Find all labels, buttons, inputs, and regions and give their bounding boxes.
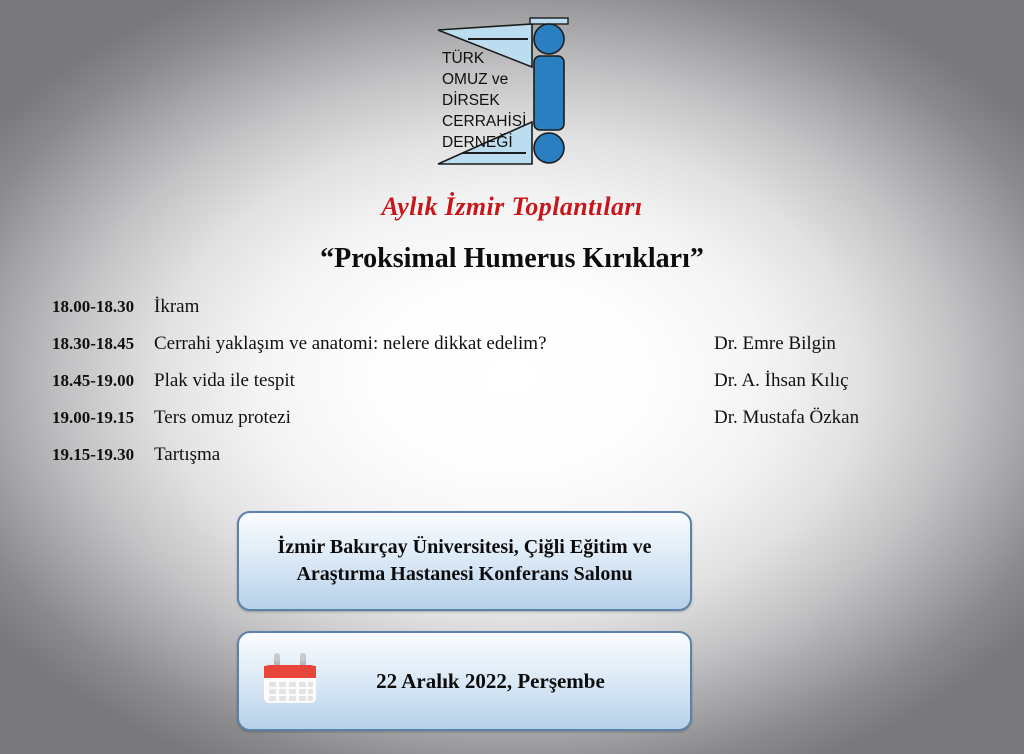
program-speaker: Dr. Emre Bilgin xyxy=(714,333,972,355)
calendar-post-left xyxy=(274,653,280,662)
series-title: Aylık İzmir Toplantıları xyxy=(0,192,1024,222)
program-time: 19.00-19.15 xyxy=(52,408,152,428)
calendar-icon xyxy=(261,652,319,710)
program-topic: Cerrahi yaklaşım ve anatomi: nelere dikk… xyxy=(152,333,714,355)
logo-bottom-circle xyxy=(534,133,564,163)
program-row: 18.00-18.30 İkram xyxy=(52,296,972,333)
venue-line-2: Araştırma Hastanesi Konferans Salonu xyxy=(296,563,632,585)
logo-line-omuz-ve: OMUZ ve xyxy=(442,71,508,88)
calendar-post-right xyxy=(300,653,306,662)
logo-top-cap xyxy=(530,18,568,24)
program-speaker: Dr. A. İhsan Kılıç xyxy=(714,370,972,392)
program-time: 18.45-19.00 xyxy=(52,371,152,391)
logo-top-circle xyxy=(534,24,564,54)
logo-line-dirsek: DİRSEK xyxy=(442,91,500,109)
program-speaker: Dr. Mustafa Özkan xyxy=(714,407,972,429)
date-box: 22 Aralık 2022, Perşembe xyxy=(237,631,692,731)
logo-line-dernegi: DERNEĞİ xyxy=(442,133,513,151)
program-topic: Ters omuz protezi xyxy=(152,407,714,429)
turk-omuz-ve-dirsek-cerrahisi-dernegi-logo: TÜRK OMUZ ve DİRSEK CERRAHİSİ DERNEĞİ xyxy=(432,12,592,177)
venue-line-1: İzmir Bakırçay Üniversitesi, Çiğli Eğiti… xyxy=(277,536,651,558)
program-row: 19.00-19.15 Ters omuz protezi Dr. Mustaf… xyxy=(52,407,972,444)
logo-block: TÜRK OMUZ ve DİRSEK CERRAHİSİ DERNEĞİ xyxy=(0,12,1024,177)
program-topic: Tartışma xyxy=(152,444,714,466)
program-row: 18.45-19.00 Plak vida ile tespit Dr. A. … xyxy=(52,370,972,407)
poster-canvas: TÜRK OMUZ ve DİRSEK CERRAHİSİ DERNEĞİ Ay… xyxy=(0,0,1024,754)
program-topic: Plak vida ile tespit xyxy=(152,370,714,392)
date-text: 22 Aralık 2022, Perşembe xyxy=(319,669,690,694)
venue-text: İzmir Bakırçay Üniversitesi, Çiğli Eğiti… xyxy=(263,534,665,588)
program-time: 18.30-18.45 xyxy=(52,334,152,354)
logo-center-bar xyxy=(534,56,564,130)
program-time: 18.00-18.30 xyxy=(52,297,152,317)
calendar-header-rounded xyxy=(264,665,316,678)
logo-line-turk: TÜRK xyxy=(442,49,485,67)
main-title: “Proksimal Humerus Kırıkları” xyxy=(0,243,1024,275)
program-row: 19.15-19.30 Tartışma xyxy=(52,444,972,481)
program-schedule: 18.00-18.30 İkram 18.30-18.45 Cerrahi ya… xyxy=(52,296,972,481)
logo-line-cerrahisi: CERRAHİSİ xyxy=(442,112,526,130)
program-row: 18.30-18.45 Cerrahi yaklaşım ve anatomi:… xyxy=(52,333,972,370)
program-topic: İkram xyxy=(152,296,714,318)
program-time: 19.15-19.30 xyxy=(52,445,152,465)
venue-box: İzmir Bakırçay Üniversitesi, Çiğli Eğiti… xyxy=(237,511,692,611)
